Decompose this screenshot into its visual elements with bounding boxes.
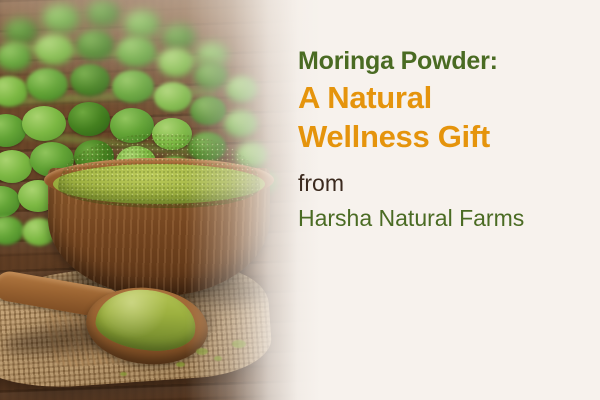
promotional-banner: Moringa Powder: A Natural Wellness Gift … xyxy=(0,0,600,400)
headline-line-2: A Natural xyxy=(298,78,590,117)
headline-block: Moringa Powder: A Natural Wellness Gift … xyxy=(298,44,590,234)
headline-line-1: Moringa Powder: xyxy=(298,44,590,78)
photo-top-fade-overlay xyxy=(0,0,320,400)
headline-line-3: Wellness Gift xyxy=(298,117,590,156)
moringa-powder-photo xyxy=(0,0,320,400)
headline-line-4: from xyxy=(298,156,590,202)
brand-name: Harsha Natural Farms xyxy=(298,202,590,234)
